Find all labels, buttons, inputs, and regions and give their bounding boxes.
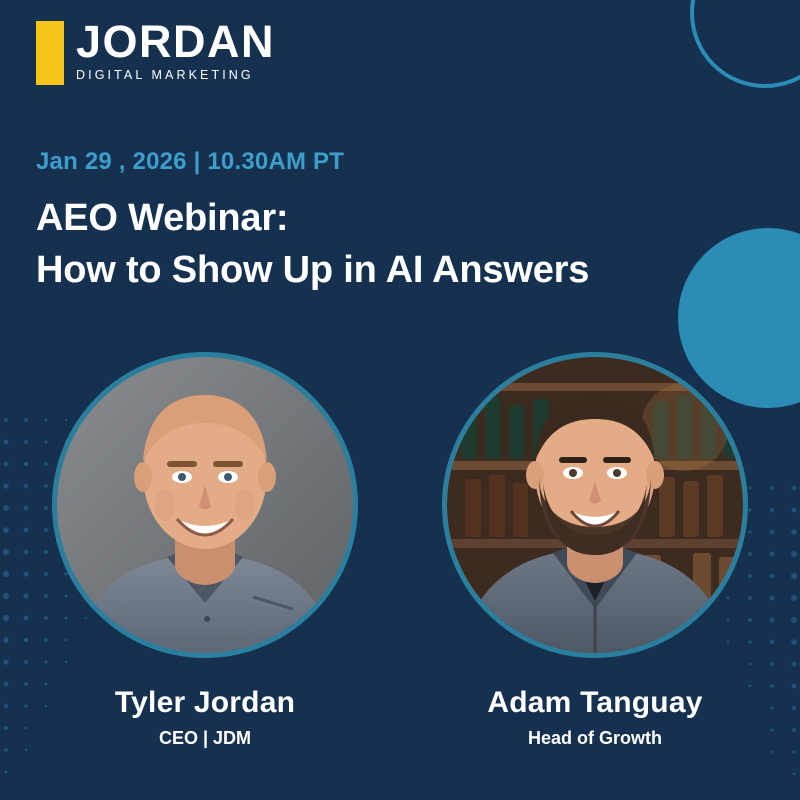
headshot-photo-tyler bbox=[57, 357, 353, 653]
webinar-promo-poster: JORDAN DIGITAL MARKETING Jan 29 , 2026 |… bbox=[0, 0, 800, 800]
speaker-role: Head of Growth bbox=[528, 728, 662, 749]
speaker-name: Tyler Jordan bbox=[115, 686, 295, 720]
page-title: AEO Webinar: How to Show Up in AI Answer… bbox=[36, 192, 589, 296]
speaker-role: CEO | JDM bbox=[159, 728, 251, 749]
logo-bar-icon bbox=[36, 21, 64, 85]
logo-tagline: DIGITAL MARKETING bbox=[76, 68, 275, 82]
speaker-name: Adam Tanguay bbox=[487, 686, 702, 720]
title-line-2: How to Show Up in AI Answers bbox=[36, 244, 589, 296]
avatar bbox=[442, 352, 748, 658]
headshot-photo-adam bbox=[447, 357, 743, 653]
speaker-card-adam-tanguay: Adam Tanguay Head of Growth bbox=[440, 352, 750, 749]
logo-brand-name: JORDAN bbox=[76, 18, 275, 65]
speakers-row: Tyler Jordan CEO | JDM bbox=[0, 352, 800, 749]
speaker-card-tyler-jordan: Tyler Jordan CEO | JDM bbox=[50, 352, 360, 749]
brand-logo: JORDAN DIGITAL MARKETING bbox=[36, 18, 275, 85]
avatar bbox=[52, 352, 358, 658]
title-line-1: AEO Webinar: bbox=[36, 197, 288, 239]
circle-outline-icon bbox=[690, 0, 800, 88]
webinar-date-time: Jan 29 , 2026 | 10.30AM PT bbox=[36, 148, 344, 176]
